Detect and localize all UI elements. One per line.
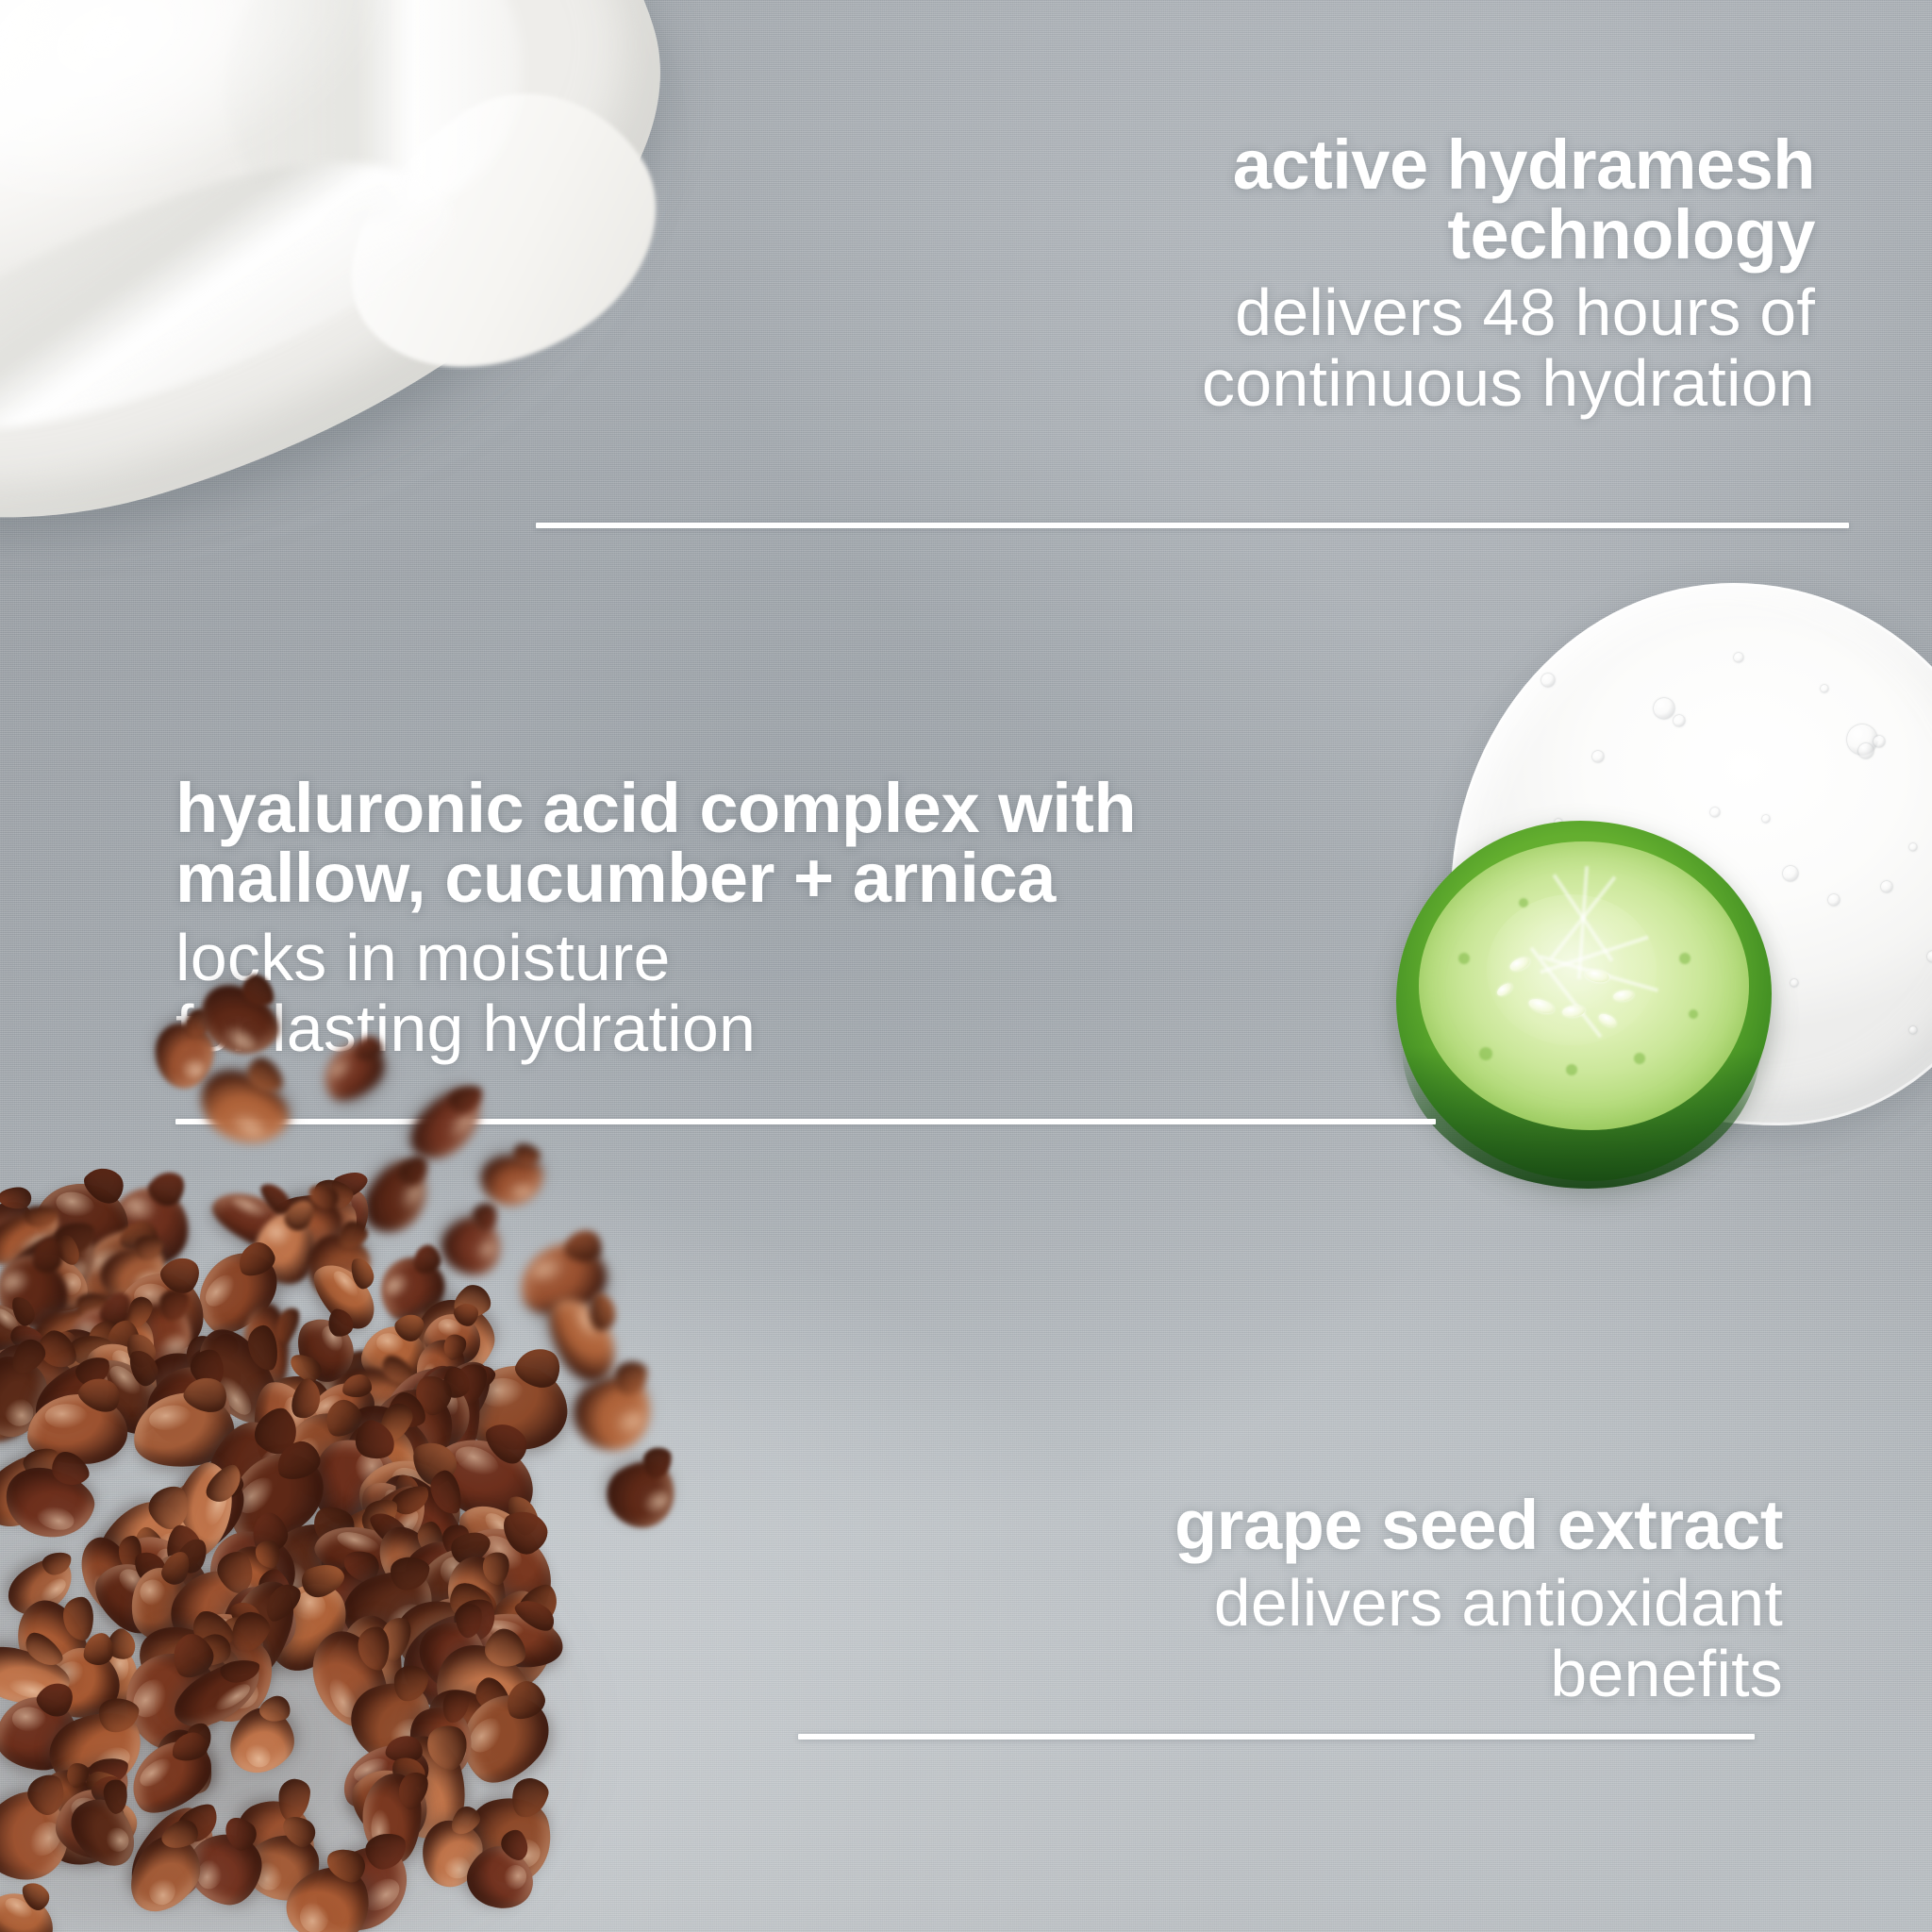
subline-line: delivers 48 hours of (849, 277, 1815, 348)
gel-bubble (1858, 743, 1874, 758)
subline-line: locks in moisture (175, 923, 1185, 993)
headline-line: mallow, cucumber + arnica (175, 843, 1185, 913)
benefit-subline-grapeseed: delivers antioxidant benefits (774, 1568, 1783, 1709)
gel-bubble (1541, 674, 1555, 687)
benefit-headline-hydramesh: active hydramesh technology (849, 130, 1815, 270)
benefit-block-grapeseed: grape seed extract delivers antioxidant … (774, 1491, 1783, 1709)
subline-line: benefits (774, 1639, 1783, 1709)
grape-seed-pile-image (0, 934, 689, 1932)
cucumber-slice-image (1396, 811, 1792, 1207)
grape-seed (596, 1449, 688, 1541)
cucumber-flesh-dot (1679, 953, 1690, 964)
cucumber-flesh-dot (1566, 1064, 1577, 1075)
benefit-headline-hyaluronic: hyaluronic acid complex with mallow, cuc… (175, 774, 1185, 913)
cucumber-flesh-dot (1519, 898, 1528, 908)
gel-bubble (1874, 736, 1885, 747)
gel-bubble (1734, 653, 1743, 662)
grape-seed-beak (590, 1292, 615, 1330)
cucumber-flesh-dot (1634, 1053, 1645, 1064)
subline-line: delivers antioxidant (774, 1568, 1783, 1639)
subline-line: continuous hydration (849, 348, 1815, 419)
gel-bubble (1881, 881, 1892, 892)
gel-bubble (1909, 1026, 1917, 1034)
gel-bubble (1674, 715, 1685, 726)
gel-bubble (1821, 685, 1828, 692)
gel-bubble (1927, 951, 1932, 962)
benefit-block-hyaluronic: hyaluronic acid complex with mallow, cuc… (175, 774, 1185, 1064)
headline-line: hyaluronic acid complex with (175, 774, 1185, 843)
benefit-subline-hyaluronic: locks in moisture for lasting hydration (175, 923, 1185, 1064)
divider-rule-2 (175, 1119, 1436, 1124)
benefit-subline-hydramesh: delivers 48 hours of continuous hydratio… (849, 277, 1815, 419)
benefit-headline-grapeseed: grape seed extract (774, 1491, 1783, 1560)
cucumber-flesh-dot (1479, 1047, 1492, 1060)
divider-rule-3 (798, 1734, 1755, 1740)
cream-swatch-image (0, 0, 717, 547)
headline-line: technology (849, 200, 1815, 270)
ingredient-benefits-panel: active hydramesh technology delivers 48 … (0, 0, 1932, 1932)
gel-bubble (1909, 843, 1917, 851)
divider-rule-1 (536, 523, 1849, 528)
headline-line: active hydramesh (849, 130, 1815, 200)
gel-bubble (1828, 894, 1840, 906)
gel-bubble (1592, 751, 1604, 762)
headline-line: grape seed extract (774, 1491, 1783, 1560)
cucumber-flesh-dot (1458, 953, 1470, 964)
gel-bubble (1654, 698, 1674, 719)
subline-line: for lasting hydration (175, 993, 1185, 1064)
cucumber-flesh-dot (1689, 1009, 1698, 1019)
benefit-block-hydramesh: active hydramesh technology delivers 48 … (849, 130, 1815, 419)
